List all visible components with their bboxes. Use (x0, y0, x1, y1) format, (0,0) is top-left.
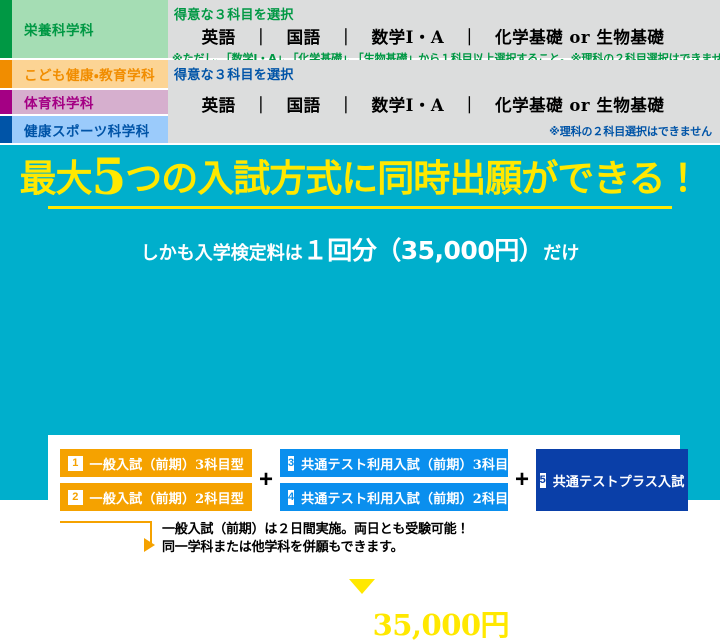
row-accent-bar-orange (0, 60, 12, 88)
department-label-nutrition: 栄養科学科 (12, 19, 94, 39)
subline-suffix: だけ (543, 243, 579, 264)
row-body-purple: 体育科学科 (12, 90, 168, 114)
exam-combination-panel: 1 一般入試（前期）3科目型 2 一般入試（前期）2科目型 + 3 共通テスト利… (48, 435, 680, 565)
exam-number-badge-1: 1 (68, 456, 83, 471)
headline-underline (48, 206, 672, 209)
callout-text-line2: 同一学科または他学科を併願もできます。 (162, 539, 469, 557)
headline-suffix: つの入試方式に同時出願ができる！ (125, 156, 700, 200)
exam-label-4: 共通テスト利用入試（前期）2科目型 (301, 488, 521, 507)
row-accent-bar-green (0, 0, 12, 58)
callout-text: 一般入試（前期）は２日間実施。両日とも受験可能！ 同一学科または他学科を併願もで… (162, 521, 469, 558)
exam-group-common-test: 3 共通テスト利用入試（前期）3科目型 4 共通テスト利用入試（前期）2科目型 (280, 449, 508, 511)
plus-separator-1: + (259, 468, 273, 492)
exam-label-3: 共通テスト利用入試（前期）3科目型 (301, 454, 521, 473)
banner-headline: 最大5つの入試方式に同時出願ができる！ (0, 159, 720, 198)
department-label-physical-education: 体育科学科 (12, 92, 94, 112)
table-row-health-sports: 健康スポーツ科学科 (0, 116, 168, 143)
exam-group-common-test-plus: 5 共通テストプラス入試 (536, 449, 688, 511)
subject-cell-heading-shared: 得意な３科目を選択 (168, 60, 720, 83)
row-body-orange: こども健康・教育学科 (12, 60, 168, 88)
row-accent-bar-blue (0, 116, 12, 143)
down-triangle-icon (349, 579, 375, 594)
footer-summary: 5回受験でも入学検定料は35,000円のみ！！ (0, 602, 720, 644)
promo-banner: 最大5つの入試方式に同時出願ができる！ しかも入学検定料は１回分（35,000円… (0, 145, 720, 500)
exam-label-1: 一般入試（前期）3科目型 (90, 454, 244, 473)
exam-type-1[interactable]: 1 一般入試（前期）3科目型 (60, 449, 252, 477)
subline-amount: １回分（35,000円） (303, 236, 543, 265)
exam-label-5: 共通テストプラス入試 (553, 471, 685, 490)
banner-subline: しかも入学検定料は１回分（35,000円）だけ (0, 231, 720, 267)
exam-number-badge-4: 4 (288, 490, 294, 505)
subject-selection-table: 栄養科学科 こども健康・教育学科 体育科学科 健康スポーツ科学科 得意な３科目を… (0, 0, 720, 145)
admissions-infographic: 栄養科学科 こども健康・教育学科 体育科学科 健康スポーツ科学科 得意な３科目を… (0, 0, 720, 500)
subject-cell-nutrition: 得意な３科目を選択 英語 ｜ 国語 ｜ 数学Ⅰ・A ｜ 化学基礎 or 生物基礎… (168, 0, 720, 58)
exam-type-4[interactable]: 4 共通テスト利用入試（前期）2科目型 (280, 483, 508, 511)
subject-cell-heading-nutrition: 得意な３科目を選択 (168, 0, 720, 23)
table-row-physical-education: 体育科学科 (0, 90, 168, 114)
callout-text-line1: 一般入試（前期）は２日間実施。両日とも受験可能！ (162, 521, 469, 539)
subject-cell-shared: 得意な３科目を選択 英語 ｜ 国語 ｜ 数学Ⅰ・A ｜ 化学基礎 or 生物基礎… (168, 60, 720, 143)
table-row-child-health-education: こども健康・教育学科 (0, 60, 168, 88)
exam-number-badge-5: 5 (540, 473, 546, 488)
department-label-child-health-education: こども健康・教育学科 (12, 64, 155, 84)
callout-arrow-icon (144, 538, 155, 552)
table-row-nutrition: 栄養科学科 (0, 0, 168, 58)
exam-type-rows: 1 一般入試（前期）3科目型 2 一般入試（前期）2科目型 + 3 共通テスト利… (60, 449, 688, 511)
exam-callout-note: 一般入試（前期）は２日間実施。両日とも受験可能！ 同一学科または他学科を併願もで… (60, 521, 670, 559)
subject-list-shared: 英語 ｜ 国語 ｜ 数学Ⅰ・A ｜ 化学基礎 or 生物基礎 (168, 92, 720, 116)
footer-prefix: 5回受験でも入学検定料は (127, 615, 373, 640)
row-accent-bar-purple (0, 90, 12, 114)
headline-number: 5 (91, 147, 125, 206)
exam-type-5[interactable]: 5 共通テストプラス入試 (536, 449, 688, 511)
headline-prefix: 最大 (19, 156, 91, 200)
footer-amount: 35,000円 (373, 608, 510, 642)
exam-type-2[interactable]: 2 一般入試（前期）2科目型 (60, 483, 252, 511)
exam-number-badge-3: 3 (288, 456, 294, 471)
plus-separator-2: + (515, 468, 529, 492)
row-body-blue: 健康スポーツ科学科 (12, 116, 168, 143)
subline-prefix: しかも入学検定料は (141, 243, 303, 264)
exam-label-2: 一般入試（前期）2科目型 (90, 488, 244, 507)
callout-elbow-line (60, 521, 152, 543)
subject-note-shared: ※理科の２科目選択はできません (168, 123, 720, 139)
exam-type-3[interactable]: 3 共通テスト利用入試（前期）3科目型 (280, 449, 508, 477)
exam-number-badge-2: 2 (68, 490, 83, 505)
subject-list-nutrition: 英語 ｜ 国語 ｜ 数学Ⅰ・A ｜ 化学基礎 or 生物基礎 (168, 24, 720, 48)
department-label-health-sports: 健康スポーツ科学科 (12, 120, 150, 140)
row-body-green: 栄養科学科 (12, 0, 168, 58)
exam-group-general: 1 一般入試（前期）3科目型 2 一般入試（前期）2科目型 (60, 449, 252, 511)
footer-suffix: のみ！！ (509, 615, 593, 640)
